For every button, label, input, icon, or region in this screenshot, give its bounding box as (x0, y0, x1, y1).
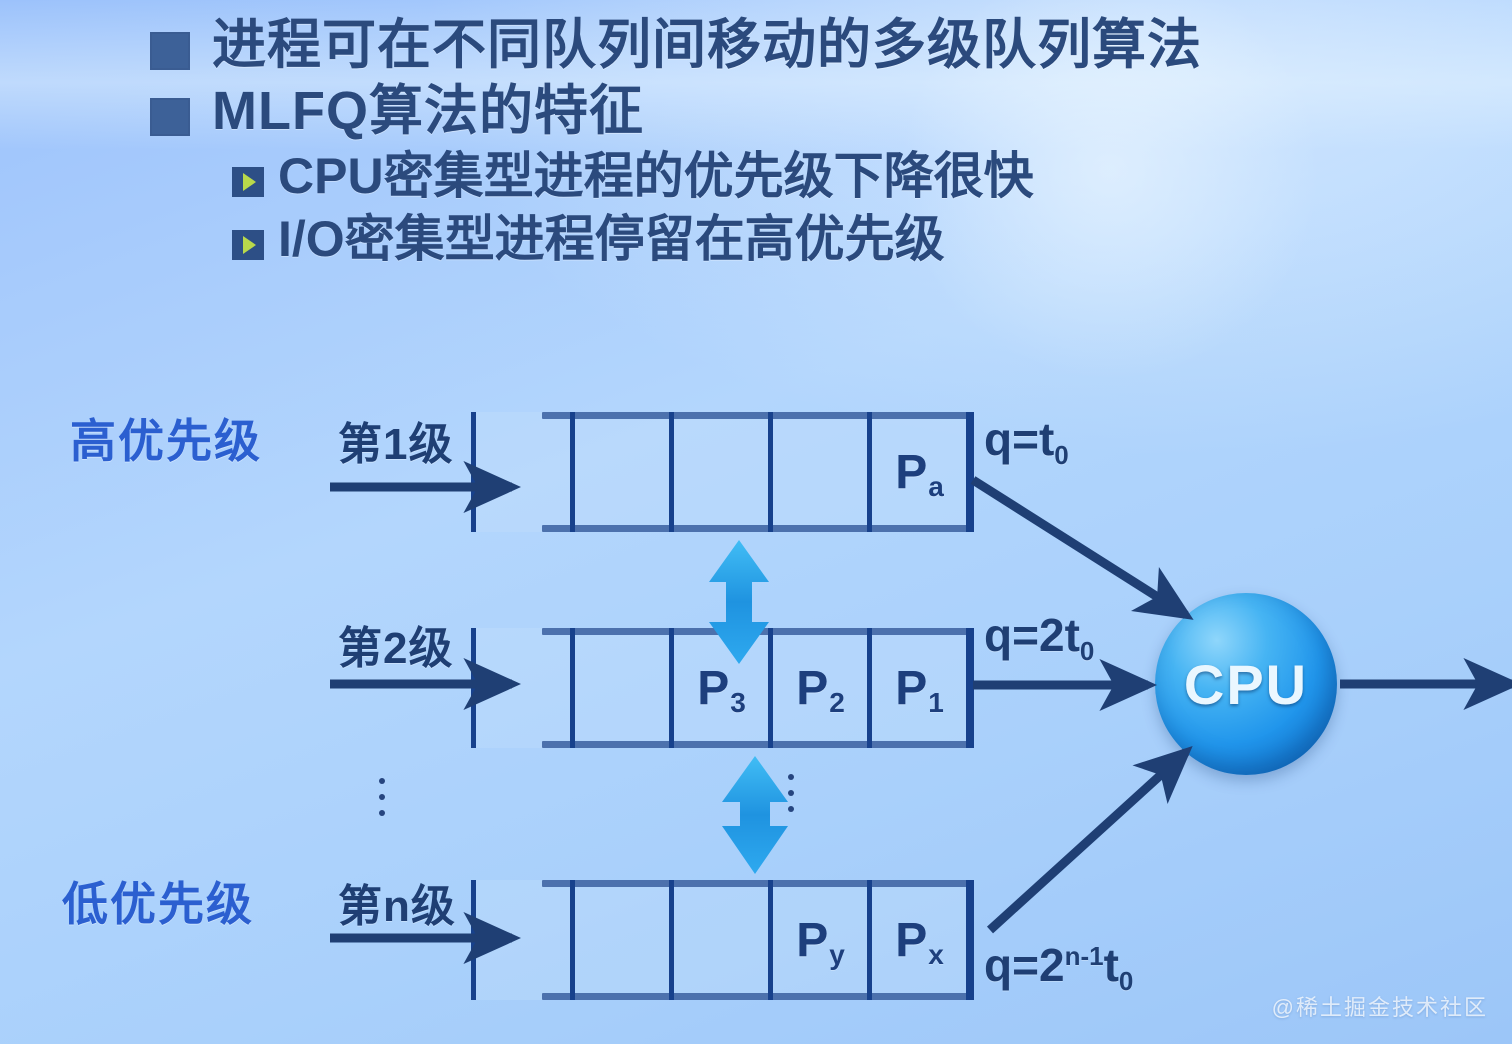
diagram-arrows (0, 0, 1512, 1044)
process-move-arrow-lower (722, 756, 788, 874)
watermark: @稀土掘金技术社区 (1272, 990, 1488, 1022)
queue1-to-cpu-arrow (973, 480, 1186, 615)
mlfq-diagram: 高优先级 低优先级 第1级 第2级 第n级 Pa q=t0 (0, 0, 1512, 1044)
queue3-to-cpu-arrow (990, 752, 1186, 930)
process-move-arrow-upper (709, 540, 769, 664)
